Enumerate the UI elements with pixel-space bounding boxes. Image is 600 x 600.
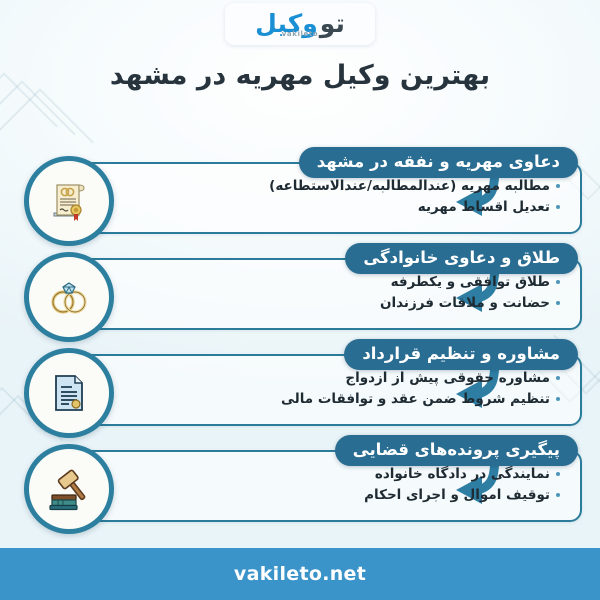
bullet-dot-icon bbox=[556, 472, 560, 476]
list-item: طلاق توافقی و یکطرفه bbox=[380, 272, 560, 293]
service-card: دعاوی مهریه و نفقه در مشهد مطالبه مهریه … bbox=[0, 148, 600, 244]
list-item: نمایندگی در دادگاه خانواده bbox=[364, 464, 560, 485]
contract-document-icon bbox=[24, 348, 114, 438]
bullet-text: تعدیل اقساط مهریه bbox=[418, 197, 550, 218]
services-list: دعاوی مهریه و نفقه در مشهد مطالبه مهریه … bbox=[0, 148, 600, 532]
service-card: پیگیری پرونده‌های قضایی نمایندگی در دادگ… bbox=[0, 436, 600, 532]
service-heading: مشاوره و تنظیم قرارداد bbox=[344, 339, 578, 370]
list-item: تعدیل اقساط مهریه bbox=[269, 197, 560, 218]
logo-subtitle: vakileto bbox=[282, 30, 318, 38]
service-bullets: مطالبه مهریه (عندالمطالبه/عندالاستطاعه) … bbox=[269, 176, 560, 218]
page-title: بهترین وکیل مهریه در مشهد bbox=[0, 58, 600, 93]
service-bullets: نمایندگی در دادگاه خانواده توقیف اموال و… bbox=[364, 464, 560, 506]
wedding-rings-icon bbox=[24, 252, 114, 342]
bullet-text: مشاوره حقوقی پیش از ازدواج bbox=[345, 368, 550, 389]
service-heading: طلاق و دعاوی خانوادگی bbox=[345, 243, 578, 274]
list-item: حضانت و ملاقات فرزندان bbox=[380, 293, 560, 314]
bullet-text: طلاق توافقی و یکطرفه bbox=[391, 272, 550, 293]
bullet-dot-icon bbox=[556, 184, 560, 188]
bullet-dot-icon bbox=[556, 397, 560, 401]
service-card: طلاق و دعاوی خانوادگی طلاق توافقی و یکطر… bbox=[0, 244, 600, 340]
marriage-certificate-icon bbox=[24, 156, 114, 246]
bullet-dot-icon bbox=[556, 280, 560, 284]
list-item: تنظیم شروط ضمن عقد و توافقات مالی bbox=[281, 389, 560, 410]
bullet-text: مطالبه مهریه (عندالمطالبه/عندالاستطاعه) bbox=[269, 176, 550, 197]
bullet-dot-icon bbox=[556, 301, 560, 305]
bullet-dot-icon bbox=[556, 205, 560, 209]
bullet-text: توقیف اموال و اجرای احکام bbox=[364, 485, 550, 506]
service-heading: پیگیری پرونده‌های قضایی bbox=[335, 435, 578, 466]
bullet-dot-icon bbox=[556, 376, 560, 380]
list-item: مشاوره حقوقی پیش از ازدواج bbox=[281, 368, 560, 389]
service-bullets: مشاوره حقوقی پیش از ازدواج تنظیم شروط ضم… bbox=[281, 368, 560, 410]
bullet-dot-icon bbox=[556, 493, 560, 497]
website-url[interactable]: vakileto.net bbox=[234, 563, 366, 585]
bullet-text: نمایندگی در دادگاه خانواده bbox=[375, 464, 550, 485]
logo-secondary-text: تو bbox=[320, 11, 345, 36]
service-heading: دعاوی مهریه و نفقه در مشهد bbox=[299, 147, 578, 178]
list-item: مطالبه مهریه (عندالمطالبه/عندالاستطاعه) bbox=[269, 176, 560, 197]
service-card: مشاوره و تنظیم قرارداد مشاوره حقوقی پیش … bbox=[0, 340, 600, 436]
infographic-poster: تو وکیل vakileto بهترین وکیل مهریه در مش… bbox=[0, 0, 600, 600]
brand-logo[interactable]: تو وکیل vakileto bbox=[225, 3, 375, 45]
service-bullets: طلاق توافقی و یکطرفه حضانت و ملاقات فرزن… bbox=[380, 272, 560, 314]
bullet-text: تنظیم شروط ضمن عقد و توافقات مالی bbox=[281, 389, 550, 410]
bullet-text: حضانت و ملاقات فرزندان bbox=[380, 293, 550, 314]
list-item: توقیف اموال و اجرای احکام bbox=[364, 485, 560, 506]
gavel-books-icon bbox=[24, 444, 114, 534]
footer-bar: vakileto.net bbox=[0, 548, 600, 600]
